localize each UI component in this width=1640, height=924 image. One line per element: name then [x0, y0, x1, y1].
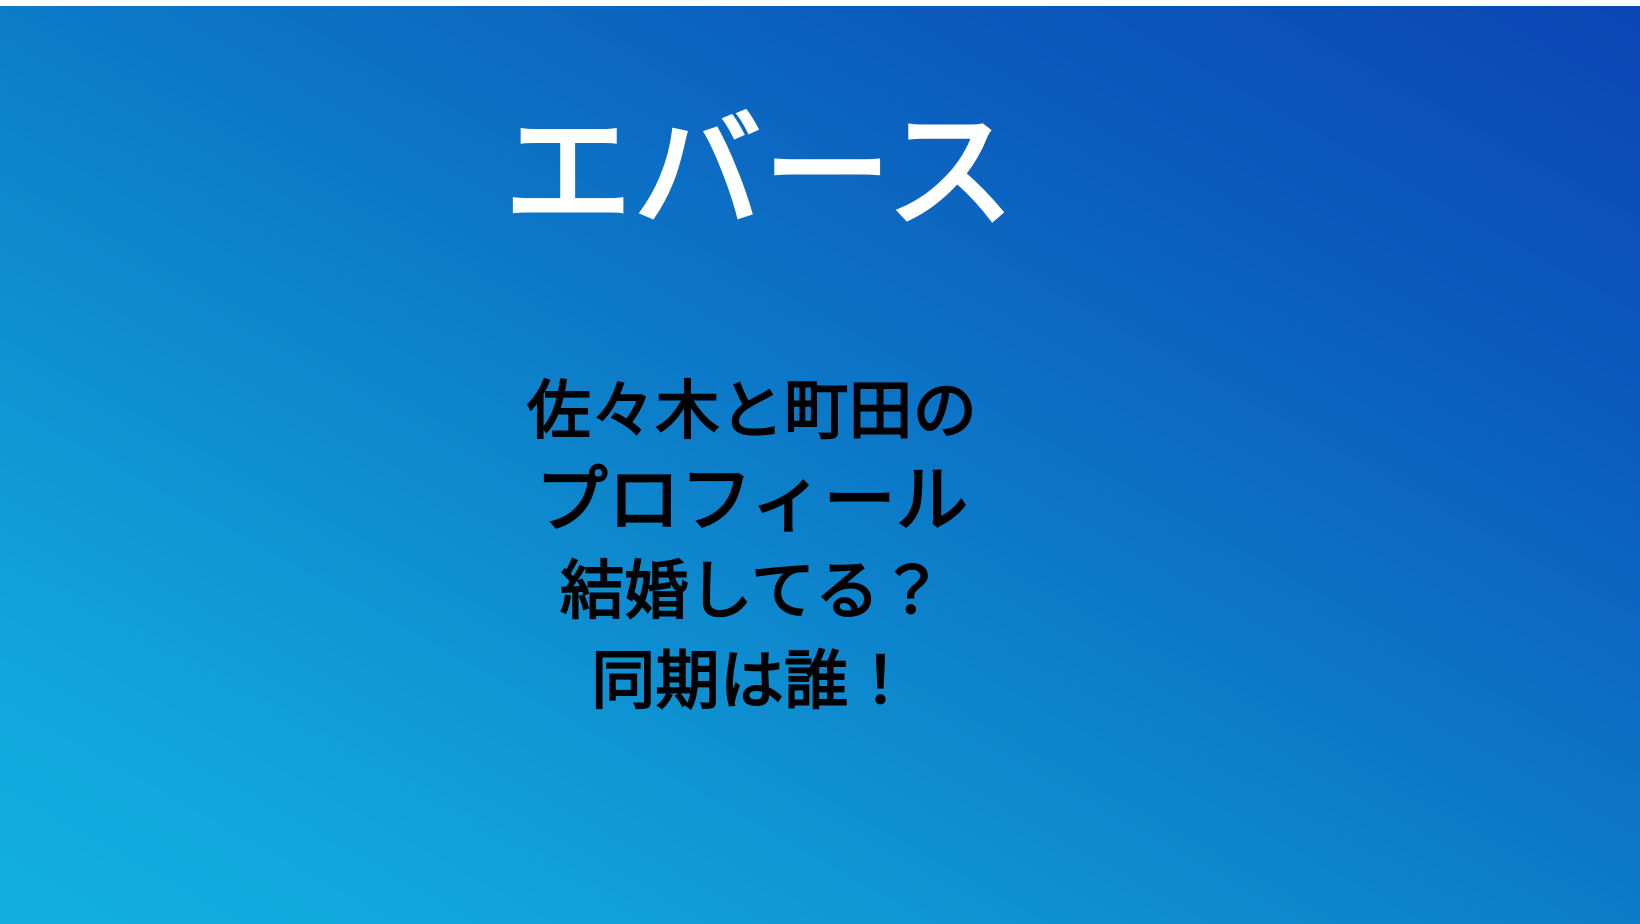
subcopy-line-1: 佐々木と町田の	[0, 366, 1504, 456]
subcopy-block: 佐々木と町田の プロフィール 結婚してる？ 同期は誰！	[0, 366, 1504, 726]
page-title: エバース	[0, 6, 1520, 239]
subcopy-line-3: 結婚してる？	[0, 546, 1504, 636]
thumbnail-canvas: エバース 佐々木と町田の プロフィール 結婚してる？ 同期は誰！	[0, 0, 1640, 924]
subcopy-line-2: プロフィール	[0, 456, 1504, 546]
subcopy-line-4: 同期は誰！	[0, 636, 1504, 726]
headline-block: エバース	[0, 6, 1520, 239]
gradient-background: エバース 佐々木と町田の プロフィール 結婚してる？ 同期は誰！	[0, 6, 1640, 924]
